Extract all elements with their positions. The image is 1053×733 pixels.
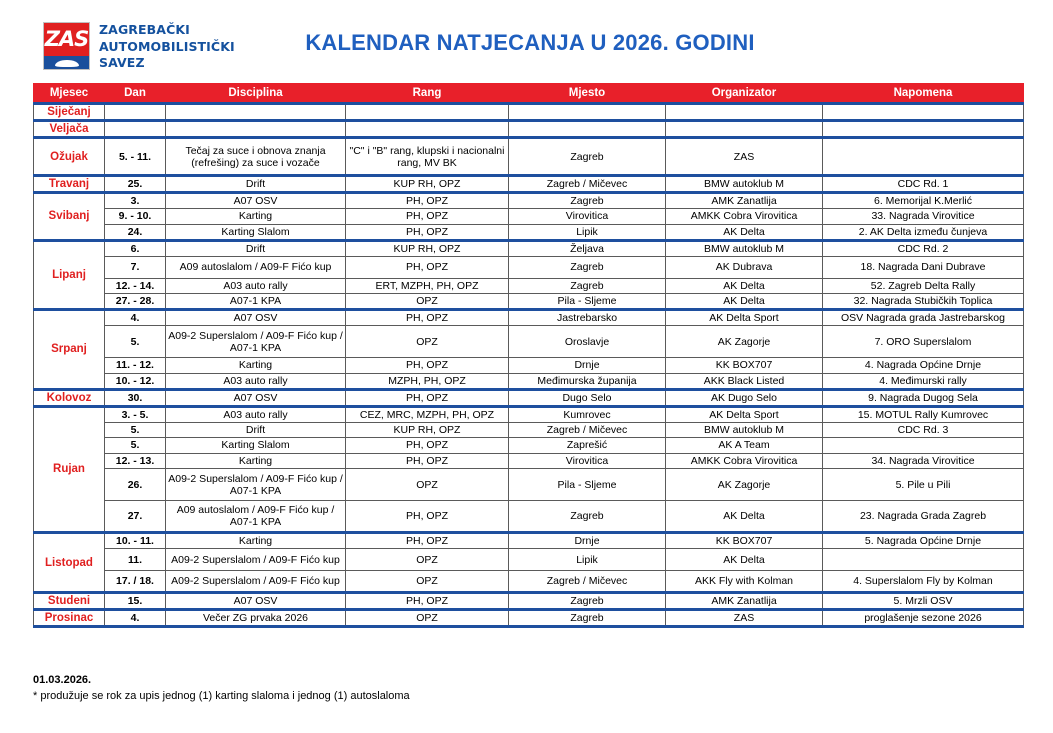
table-row: Siječanj: [34, 104, 1024, 121]
cell-dan: 27.: [105, 501, 166, 533]
cell-mjesto: Pila - Sljeme: [509, 294, 666, 310]
zas-logo-wordmark: ZAGREBAČKI AUTOMOBILISTIČKI SAVEZ: [99, 22, 235, 72]
cell-napomena: 7. ORO Superslalom: [823, 326, 1024, 358]
calendar-table-body: SiječanjVeljačaOžujak5. - 11.Tečaj za su…: [34, 104, 1024, 627]
cell-organizator: KK BOX707: [666, 358, 823, 374]
month-cell: Lipanj: [34, 240, 105, 310]
cell-disciplina: A09-2 Superslalom / A09-F Fićo kup: [166, 549, 346, 571]
cell-organizator: AMKK Cobra Virovitica: [666, 209, 823, 225]
cell-mjesto: Zagreb: [509, 501, 666, 533]
cell-organizator: AKK Fly with Kolman: [666, 571, 823, 593]
cell-disciplina: Karting Slalom: [166, 224, 346, 240]
cell-mjesto: Zagreb / Mičevec: [509, 571, 666, 593]
table-row: Ožujak5. - 11.Tečaj za suce i obnova zna…: [34, 138, 1024, 176]
cell-disciplina: Drift: [166, 240, 346, 256]
cell-napomena: proglašenje sezone 2026: [823, 610, 1024, 627]
cell-rang: OPZ: [346, 326, 509, 358]
zas-logo-swoosh-icon: [55, 60, 79, 67]
page-title: KALENDAR NATJECANJA U 2026. GODINI: [250, 30, 810, 56]
cell-disciplina: Karting: [166, 533, 346, 549]
cell-rang: PH, OPZ: [346, 256, 509, 278]
cell-rang: PH, OPZ: [346, 453, 509, 469]
cell-napomena: 15. MOTUL Rally Kumrovec: [823, 406, 1024, 422]
table-row: Rujan3. - 5.A03 auto rallyCEZ, MRC, MZPH…: [34, 406, 1024, 422]
footer-note: * produžuje se rok za upis jednog (1) ka…: [33, 688, 410, 704]
cell-rang: "C" i "B" rang, klupski i nacionalni ran…: [346, 138, 509, 176]
cell-disciplina: A07 OSV: [166, 389, 346, 406]
cell-dan: 5.: [105, 422, 166, 438]
cell-disciplina: Karting: [166, 358, 346, 374]
cell-dan: 11.: [105, 549, 166, 571]
cell-dan: 17. / 18.: [105, 571, 166, 593]
cell-disciplina: A07 OSV: [166, 593, 346, 610]
cell-rang: PH, OPZ: [346, 501, 509, 533]
cell-mjesto: Pila - Sljeme: [509, 469, 666, 501]
column-header-dan: Dan: [105, 84, 166, 104]
cell-dan: 10. - 11.: [105, 533, 166, 549]
cell-napomena: 32. Nagrada Stubičkih Toplica: [823, 294, 1024, 310]
cell-dan: 4.: [105, 610, 166, 627]
cell-disciplina: A03 auto rally: [166, 406, 346, 422]
column-header-organizator: Organizator: [666, 84, 823, 104]
cell-disciplina: [166, 121, 346, 138]
cell-mjesto: Zagreb: [509, 256, 666, 278]
cell-dan: 12. - 13.: [105, 453, 166, 469]
cell-dan: 9. - 10.: [105, 209, 166, 225]
table-row: 7.A09 autoslalom / A09-F Fićo kupPH, OPZ…: [34, 256, 1024, 278]
cell-dan: 6.: [105, 240, 166, 256]
cell-disciplina: Karting: [166, 453, 346, 469]
cell-mjesto: Međimurska županija: [509, 373, 666, 389]
cell-organizator: ZAS: [666, 610, 823, 627]
cell-organizator: AK Delta: [666, 278, 823, 294]
cell-mjesto: [509, 121, 666, 138]
cell-mjesto: Drnje: [509, 533, 666, 549]
column-header-napomena: Napomena: [823, 84, 1024, 104]
calendar-table: Mjesec Dan Disciplina Rang Mjesto Organi…: [33, 83, 1024, 628]
cell-disciplina: A03 auto rally: [166, 278, 346, 294]
cell-organizator: BMW autoklub M: [666, 176, 823, 193]
zas-logo-monogram: ZAS: [44, 27, 89, 51]
cell-mjesto: Zagreb: [509, 278, 666, 294]
footer-date: 01.03.2026.: [33, 672, 410, 688]
calendar-table-wrapper: Mjesec Dan Disciplina Rang Mjesto Organi…: [33, 83, 1023, 628]
table-row: 17. / 18.A09-2 Superslalom / A09-F Fićo …: [34, 571, 1024, 593]
month-cell: Veljača: [34, 121, 105, 138]
column-header-mjesec: Mjesec: [34, 84, 105, 104]
cell-organizator: AK A Team: [666, 438, 823, 454]
table-row: Listopad10. - 11.KartingPH, OPZDrnjeKK B…: [34, 533, 1024, 549]
cell-mjesto: Drnje: [509, 358, 666, 374]
cell-disciplina: A03 auto rally: [166, 373, 346, 389]
cell-rang: OPZ: [346, 294, 509, 310]
cell-napomena: OSV Nagrada grada Jastrebarskog: [823, 310, 1024, 326]
table-row: 5.A09-2 Superslalom / A09-F Fićo kup / A…: [34, 326, 1024, 358]
month-cell: Studeni: [34, 593, 105, 610]
cell-mjesto: Željava: [509, 240, 666, 256]
zas-logo: ZAS ZAGREBAČKI AUTOMOBILISTIČKI SAVEZ: [43, 22, 235, 72]
column-header-mjesto: Mjesto: [509, 84, 666, 104]
cell-napomena: 4. Nagrada Općine Drnje: [823, 358, 1024, 374]
cell-rang: OPZ: [346, 549, 509, 571]
cell-mjesto: Virovitica: [509, 209, 666, 225]
table-row: 5.DriftKUP RH, OPZZagreb / MičevecBMW au…: [34, 422, 1024, 438]
cell-napomena: [823, 549, 1024, 571]
table-row: 27.A09 autoslalom / A09-F Fićo kup / A07…: [34, 501, 1024, 533]
cell-organizator: BMW autoklub M: [666, 240, 823, 256]
cell-napomena: 18. Nagrada Dani Dubrave: [823, 256, 1024, 278]
cell-disciplina: Drift: [166, 176, 346, 193]
cell-napomena: 34. Nagrada Virovitice: [823, 453, 1024, 469]
column-header-disciplina: Disciplina: [166, 84, 346, 104]
cell-napomena: CDC Rd. 3: [823, 422, 1024, 438]
cell-organizator: AK Delta: [666, 549, 823, 571]
zas-logo-mark-icon: ZAS: [43, 22, 90, 70]
cell-mjesto: Zagreb: [509, 610, 666, 627]
cell-dan: 7.: [105, 256, 166, 278]
cell-dan: 3.: [105, 193, 166, 209]
cell-mjesto: Zagreb: [509, 193, 666, 209]
month-cell: Ožujak: [34, 138, 105, 176]
cell-organizator: ZAS: [666, 138, 823, 176]
cell-organizator: BMW autoklub M: [666, 422, 823, 438]
cell-dan: 10. - 12.: [105, 373, 166, 389]
cell-napomena: [823, 138, 1024, 176]
cell-rang: PH, OPZ: [346, 193, 509, 209]
column-header-rang: Rang: [346, 84, 509, 104]
cell-organizator: AK Delta: [666, 294, 823, 310]
cell-dan: 5. - 11.: [105, 138, 166, 176]
cell-rang: PH, OPZ: [346, 358, 509, 374]
cell-organizator: AMK Zanatlija: [666, 593, 823, 610]
cell-dan: 27. - 28.: [105, 294, 166, 310]
month-cell: Rujan: [34, 406, 105, 533]
cell-rang: CEZ, MRC, MZPH, PH, OPZ: [346, 406, 509, 422]
cell-rang: KUP RH, OPZ: [346, 176, 509, 193]
table-row: Lipanj6.DriftKUP RH, OPZŽeljavaBMW autok…: [34, 240, 1024, 256]
cell-mjesto: Lipik: [509, 549, 666, 571]
cell-rang: OPZ: [346, 610, 509, 627]
cell-disciplina: [166, 104, 346, 121]
cell-mjesto: Zagreb: [509, 138, 666, 176]
month-cell: Listopad: [34, 533, 105, 593]
table-row: 12. - 14.A03 auto rallyERT, MZPH, PH, OP…: [34, 278, 1024, 294]
cell-rang: [346, 121, 509, 138]
cell-dan: [105, 121, 166, 138]
cell-rang: OPZ: [346, 571, 509, 593]
calendar-document: ZAS ZAGREBAČKI AUTOMOBILISTIČKI SAVEZ KA…: [0, 0, 1053, 733]
cell-mjesto: Dugo Selo: [509, 389, 666, 406]
cell-napomena: 5. Mrzli OSV: [823, 593, 1024, 610]
table-row: Srpanj4.A07 OSVPH, OPZJastrebarskoAK Del…: [34, 310, 1024, 326]
cell-organizator: AK Delta Sport: [666, 406, 823, 422]
cell-rang: PH, OPZ: [346, 310, 509, 326]
cell-napomena: 4. Superslalom Fly by Kolman: [823, 571, 1024, 593]
table-row: 5.Karting SlalomPH, OPZZaprešićAK A Team: [34, 438, 1024, 454]
cell-dan: 30.: [105, 389, 166, 406]
cell-mjesto: Zagreb / Mičevec: [509, 422, 666, 438]
cell-rang: PH, OPZ: [346, 209, 509, 225]
cell-dan: 11. - 12.: [105, 358, 166, 374]
cell-disciplina: A09-2 Superslalom / A09-F Fićo kup: [166, 571, 346, 593]
table-row: Svibanj3.A07 OSVPH, OPZZagrebAMK Zanatli…: [34, 193, 1024, 209]
cell-organizator: AK Dubrava: [666, 256, 823, 278]
table-row: 11.A09-2 Superslalom / A09-F Fićo kupOPZ…: [34, 549, 1024, 571]
cell-disciplina: A09 autoslalom / A09-F Fićo kup / A07-1 …: [166, 501, 346, 533]
document-footer: 01.03.2026. * produžuje se rok za upis j…: [33, 672, 410, 704]
cell-mjesto: Virovitica: [509, 453, 666, 469]
cell-dan: 25.: [105, 176, 166, 193]
table-row: 9. - 10.KartingPH, OPZViroviticaAMKK Cob…: [34, 209, 1024, 225]
table-row: Studeni15.A07 OSVPH, OPZZagrebAMK Zanatl…: [34, 593, 1024, 610]
cell-disciplina: A07 OSV: [166, 193, 346, 209]
cell-napomena: 5. Nagrada Općine Drnje: [823, 533, 1024, 549]
cell-mjesto: Zagreb / Mičevec: [509, 176, 666, 193]
cell-napomena: 9. Nagrada Dugog Sela: [823, 389, 1024, 406]
month-cell: Svibanj: [34, 193, 105, 241]
table-row: 27. - 28.A07-1 KPAOPZPila - SljemeAK Del…: [34, 294, 1024, 310]
table-row: 24.Karting SlalomPH, OPZLipikAK Delta2. …: [34, 224, 1024, 240]
cell-organizator: AMK Zanatlija: [666, 193, 823, 209]
cell-dan: 4.: [105, 310, 166, 326]
cell-napomena: [823, 438, 1024, 454]
table-row: 12. - 13.KartingPH, OPZViroviticaAMKK Co…: [34, 453, 1024, 469]
table-row: 11. - 12.KartingPH, OPZDrnjeKK BOX7074. …: [34, 358, 1024, 374]
cell-dan: 3. - 5.: [105, 406, 166, 422]
cell-napomena: 4. Međimurski rally: [823, 373, 1024, 389]
cell-organizator: [666, 121, 823, 138]
cell-rang: ERT, MZPH, PH, OPZ: [346, 278, 509, 294]
cell-disciplina: Karting: [166, 209, 346, 225]
cell-disciplina: Karting Slalom: [166, 438, 346, 454]
cell-napomena: 2. AK Delta između čunjeva: [823, 224, 1024, 240]
cell-napomena: [823, 121, 1024, 138]
document-header: ZAS ZAGREBAČKI AUTOMOBILISTIČKI SAVEZ KA…: [0, 0, 1053, 82]
cell-organizator: AK Delta: [666, 224, 823, 240]
cell-mjesto: [509, 104, 666, 121]
cell-disciplina: A07-1 KPA: [166, 294, 346, 310]
cell-organizator: AKK Black Listed: [666, 373, 823, 389]
cell-rang: KUP RH, OPZ: [346, 240, 509, 256]
cell-organizator: AK Dugo Selo: [666, 389, 823, 406]
cell-organizator: AK Zagorje: [666, 326, 823, 358]
cell-rang: MZPH, PH, OPZ: [346, 373, 509, 389]
cell-organizator: AK Delta Sport: [666, 310, 823, 326]
cell-napomena: CDC Rd. 2: [823, 240, 1024, 256]
cell-disciplina: Večer ZG prvaka 2026: [166, 610, 346, 627]
cell-disciplina: A09-2 Superslalom / A09-F Fićo kup / A07…: [166, 469, 346, 501]
cell-disciplina: Tečaj za suce i obnova znanja (refrešing…: [166, 138, 346, 176]
table-row: Kolovoz30.A07 OSVPH, OPZDugo SeloAK Dugo…: [34, 389, 1024, 406]
cell-rang: [346, 104, 509, 121]
table-row: 26.A09-2 Superslalom / A09-F Fićo kup / …: [34, 469, 1024, 501]
cell-rang: PH, OPZ: [346, 389, 509, 406]
table-header-row: Mjesec Dan Disciplina Rang Mjesto Organi…: [34, 84, 1024, 104]
month-cell: Siječanj: [34, 104, 105, 121]
cell-mjesto: Kumrovec: [509, 406, 666, 422]
cell-dan: 26.: [105, 469, 166, 501]
cell-organizator: KK BOX707: [666, 533, 823, 549]
cell-napomena: CDC Rd. 1: [823, 176, 1024, 193]
cell-rang: OPZ: [346, 469, 509, 501]
cell-disciplina: A07 OSV: [166, 310, 346, 326]
cell-rang: PH, OPZ: [346, 533, 509, 549]
cell-disciplina: Drift: [166, 422, 346, 438]
cell-napomena: 33. Nagrada Virovitice: [823, 209, 1024, 225]
table-row: Prosinac4.Večer ZG prvaka 2026OPZZagrebZ…: [34, 610, 1024, 627]
cell-organizator: AMKK Cobra Virovitica: [666, 453, 823, 469]
cell-rang: PH, OPZ: [346, 438, 509, 454]
cell-napomena: 23. Nagrada Grada Zagreb: [823, 501, 1024, 533]
cell-dan: 12. - 14.: [105, 278, 166, 294]
cell-napomena: 6. Memorijal K.Merlić: [823, 193, 1024, 209]
table-row: 10. - 12.A03 auto rallyMZPH, PH, OPZMeđi…: [34, 373, 1024, 389]
cell-organizator: AK Delta: [666, 501, 823, 533]
cell-disciplina: A09 autoslalom / A09-F Fićo kup: [166, 256, 346, 278]
table-row: Veljača: [34, 121, 1024, 138]
cell-dan: 5.: [105, 438, 166, 454]
cell-rang: PH, OPZ: [346, 224, 509, 240]
cell-mjesto: Oroslavje: [509, 326, 666, 358]
cell-dan: 24.: [105, 224, 166, 240]
month-cell: Srpanj: [34, 310, 105, 390]
cell-mjesto: Zaprešić: [509, 438, 666, 454]
month-cell: Kolovoz: [34, 389, 105, 406]
cell-rang: KUP RH, OPZ: [346, 422, 509, 438]
cell-mjesto: Zagreb: [509, 593, 666, 610]
cell-organizator: [666, 104, 823, 121]
table-row: Travanj25.DriftKUP RH, OPZZagreb / Mičev…: [34, 176, 1024, 193]
cell-dan: [105, 104, 166, 121]
cell-mjesto: Lipik: [509, 224, 666, 240]
cell-organizator: AK Zagorje: [666, 469, 823, 501]
cell-disciplina: A09-2 Superslalom / A09-F Fićo kup / A07…: [166, 326, 346, 358]
cell-napomena: 52. Zagreb Delta Rally: [823, 278, 1024, 294]
cell-rang: PH, OPZ: [346, 593, 509, 610]
cell-mjesto: Jastrebarsko: [509, 310, 666, 326]
month-cell: Prosinac: [34, 610, 105, 627]
cell-dan: 15.: [105, 593, 166, 610]
cell-dan: 5.: [105, 326, 166, 358]
cell-napomena: [823, 104, 1024, 121]
cell-napomena: 5. Pile u Pili: [823, 469, 1024, 501]
month-cell: Travanj: [34, 176, 105, 193]
